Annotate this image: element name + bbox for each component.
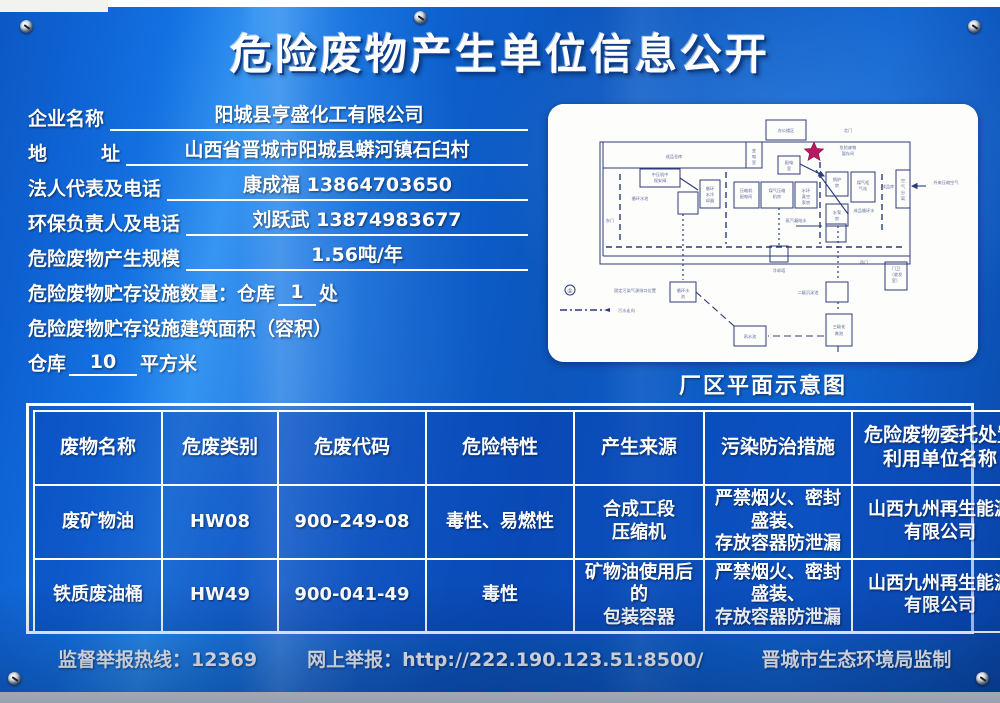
cell-code: 900-041-49 [278,559,426,633]
cell-hazard: 毒性、易燃性 [426,485,574,559]
svg-text:雨水池: 雨水池 [744,333,757,340]
hazardous-waste-table-wrapper: 废物名称 危废类别 危废代码 危险特性 产生来源 污染防治措施 危险废物委托处置… [26,403,974,634]
svg-text:离: 离 [901,195,905,202]
svg-text:煤气柜: 煤气柜 [857,179,870,186]
svg-text:锅炉: 锅炉 [833,176,841,183]
svg-text:（收发: （收发 [890,271,903,278]
info-label-generation-scale: 危险废物产生规模 [28,244,180,271]
svg-text:泵房: 泵房 [802,199,810,206]
svg-text:空: 空 [901,177,905,183]
svg-text:危险废物: 危险废物 [840,144,857,151]
svg-text:暂存间: 暂存间 [842,150,855,157]
info-row-storage-area-label: 危险废物贮存设施建筑面积（容积） [28,306,528,341]
table-row: 铁质废油桶 HW49 900-041-49 毒性 矿物油使用后的 包装容器 严禁… [34,559,1000,633]
bolt-bottom-right [976,672,989,685]
svg-text:外来压缩空气: 外来压缩空气 [933,179,959,186]
cell-waste-name: 废矿物油 [34,485,162,559]
cell-measures: 严禁烟火、密封盛装、 存放容器防泄漏 [704,559,852,633]
bolt-bottom-left [8,672,21,685]
page-title: 危险废物产生单位信息公开 [0,28,1000,82]
cell-code: 900-249-08 [278,485,426,559]
svg-text:粪池: 粪池 [835,330,844,337]
svg-text:配电: 配电 [785,159,794,166]
table-header-entrusted-unit: 危险废物委托处置 利用单位名称 [852,411,1000,485]
cell-category: HW08 [162,485,278,559]
svg-text:三级化: 三级化 [833,323,846,330]
cell-measures: 严禁烟火、密封盛装、 存放容器防泄漏 [704,485,852,559]
bolt-top-right [968,20,981,33]
svg-text:配电间: 配电间 [740,193,753,200]
cell-source-line2: 压缩机 [578,522,700,545]
svg-text:成品循环水: 成品循环水 [854,207,876,214]
info-label-env-officer: 环保负责人及电话 [28,209,180,236]
svg-text:成品仓库: 成品仓库 [666,153,683,160]
table-header-row: 废物名称 危废类别 危废代码 危险特性 产生来源 污染防治措施 危险废物委托处置… [34,411,1000,485]
cell-hazard: 毒性 [426,559,574,633]
info-label-storage-area-prefix: 仓库 [28,349,66,376]
wall-strip-left [0,0,108,12]
footer-hotline: 监督举报热线：12369 [58,645,257,672]
svg-text:压缩机: 压缩机 [740,187,753,194]
info-value-env-officer: 刘跃武 13874983677 [186,205,528,236]
svg-text:变: 变 [752,147,756,154]
table-body: 废矿物油 HW08 900-249-08 毒性、易燃性 合成工段 压缩机 严禁烟… [34,485,1000,632]
svg-text:机房: 机房 [773,193,781,200]
svg-text:房: 房 [835,182,839,189]
table-header-category: 危废类别 [162,411,278,485]
table-header-measures: 污染防治措施 [704,411,852,485]
cell-measures-line2: 存放容器防泄漏 [708,533,848,556]
table-header-code: 危废代码 [278,411,426,485]
info-value-storage-area: 10 [69,351,137,376]
bolt-top-left [20,20,33,33]
svg-text:室）: 室） [892,277,900,283]
cell-source-line1: 合成工段 [578,499,700,522]
info-row-company-name: 企业名称 阳城县亨盛化工有限公司 [28,96,528,131]
cell-waste-name: 铁质废油桶 [34,559,162,633]
cell-entrusted-unit: 山西九州再生能源 有限公司 [852,559,1000,633]
info-row-env-officer: 环保负责人及电话 刘跃武 13874983677 [28,201,528,236]
svg-text:保安阀: 保安阀 [654,177,667,184]
cell-entrusted-unit-line1: 山西九州再生能源 [856,573,1000,596]
bolt-top-center [414,11,427,24]
svg-text:水环: 水环 [802,187,810,194]
cell-entrusted-unit-line1: 山西九州再生能源 [856,499,1000,522]
cell-entrusted-unit-line2: 有限公司 [856,595,1000,618]
info-value-storage-count: 1 [278,281,316,306]
cell-source: 矿物油使用后的 包装容器 [574,559,704,633]
svg-text:水冷: 水冷 [706,191,714,198]
svg-text:循环水池: 循环水池 [632,195,650,202]
footer-authority: 晋城市生态环境局监制 [761,645,951,672]
svg-text:固定污染气源排口位置: 固定污染气源排口位置 [614,287,656,294]
svg-text:循环水: 循环水 [677,287,690,294]
cell-measures-line1: 严禁烟火、密封盛装、 [708,562,848,607]
cell-measures-line1: 严禁烟火、密封盛装、 [708,488,848,533]
info-label-storage-area: 危险废物贮存设施建筑面积（容积） [28,314,332,341]
info-value-generation-scale: 1.56吨/年 [186,240,528,271]
info-row-address: 地址 山西省晋城市阳城县蟒河镇石臼村 [28,131,528,166]
info-label-company-name: 企业名称 [28,104,104,131]
information-board: 危险废物产生单位信息公开 企业名称 阳城县亨盛化工有限公司 地址 山西省晋城市阳… [0,0,1000,703]
svg-text:气站: 气站 [859,185,867,192]
svg-text:中压机中: 中压机中 [652,171,669,178]
factory-layout-svg: ① 成品仓库 办公楼区 北门 危险废物 暂存间 配电 室 锅炉 房 煤气柜 气站… [548,104,978,362]
svg-text:蒸汽凝结水: 蒸汽凝结水 [786,217,808,224]
table-header-hazard: 危险特性 [426,411,574,485]
svg-text:真空: 真空 [802,193,810,200]
info-value-company-name: 阳城县亨盛化工有限公司 [110,100,528,131]
svg-text:污水走向: 污水走向 [618,307,635,314]
info-label-storage-count: 危险废物贮存设施数量：仓库 [28,279,275,306]
info-row-storage-area-value: 仓库 10 平方米 [28,341,528,376]
factory-layout-diagram: ① 成品仓库 办公楼区 北门 危险废物 暂存间 配电 室 锅炉 房 煤气柜 气站… [548,104,978,362]
wall-strip-bottom [0,692,1000,703]
table-row: 废矿物油 HW08 900-249-08 毒性、易燃性 合成工段 压缩机 严禁烟… [34,485,1000,559]
table-header-entrusted-unit-line2: 利用单位名称 [856,448,1000,472]
cell-source: 合成工段 压缩机 [574,485,704,559]
table-header-source: 产生来源 [574,411,704,485]
table-header: 废物名称 危废类别 危废代码 危险特性 产生来源 污染防治措施 危险废物委托处置… [34,411,1000,485]
info-value-legal-rep: 康成福 13864703650 [167,170,528,201]
wall-strip-top [108,0,1000,7]
svg-text:西门: 西门 [860,259,868,266]
info-row-generation-scale: 危险废物产生规模 1.56吨/年 [28,236,528,271]
info-row-legal-rep: 法人代表及电话 康成福 13864703650 [28,166,528,201]
svg-text:室: 室 [787,165,791,171]
svg-text:煤气压缩: 煤气压缩 [769,187,786,194]
svg-text:房: 房 [835,215,839,222]
cell-source-line1: 矿物油使用后的 [578,562,700,607]
cell-measures-line2: 存放容器防泄漏 [708,607,848,630]
diagram-caption: 厂区平面示意图 [548,368,978,400]
table-header-entrusted-unit-line1: 危险废物委托处置 [856,424,1000,448]
svg-text:①: ① [567,288,572,295]
svg-text:成品库: 成品库 [882,183,895,190]
cell-entrusted-unit-line2: 有限公司 [856,522,1000,545]
svg-text:却器: 却器 [706,197,715,204]
info-value-address: 山西省晋城市阳城县蟒河镇石臼村 [126,135,528,166]
svg-text:东门: 东门 [606,217,614,224]
svg-text:冷却塔: 冷却塔 [773,267,786,274]
table-header-waste-name: 废物名称 [34,411,162,485]
cell-entrusted-unit: 山西九州再生能源 有限公司 [852,485,1000,559]
footer: 监督举报热线：12369 网上举报：http://222.190.123.51:… [40,645,970,672]
info-label-address: 地址 [28,139,120,166]
info-row-storage-count: 危险废物贮存设施数量：仓库 1 处 [28,271,528,306]
svg-text:办公楼区: 办公楼区 [778,127,795,134]
svg-text:北门: 北门 [844,127,852,134]
svg-text:门卫: 门卫 [892,265,900,272]
footer-online-report[interactable]: 网上举报：http://222.190.123.51:8500/ [307,645,703,672]
svg-text:水泵: 水泵 [833,209,841,215]
company-info-block: 企业名称 阳城县亨盛化工有限公司 地址 山西省晋城市阳城县蟒河镇石臼村 法人代表… [28,96,528,376]
svg-text:循环: 循环 [706,185,714,192]
info-unit-storage-area: 平方米 [140,349,197,376]
svg-text:二级沉淀池: 二级沉淀池 [798,289,820,296]
svg-text:室: 室 [752,159,756,165]
cell-category: HW49 [162,559,278,633]
hazardous-waste-table: 废物名称 危废类别 危废代码 危险特性 产生来源 污染防治措施 危险废物委托处置… [33,410,1000,633]
info-label-legal-rep: 法人代表及电话 [28,174,161,201]
info-unit-storage-count: 处 [319,279,338,306]
cell-source-line2: 包装容器 [578,607,700,630]
